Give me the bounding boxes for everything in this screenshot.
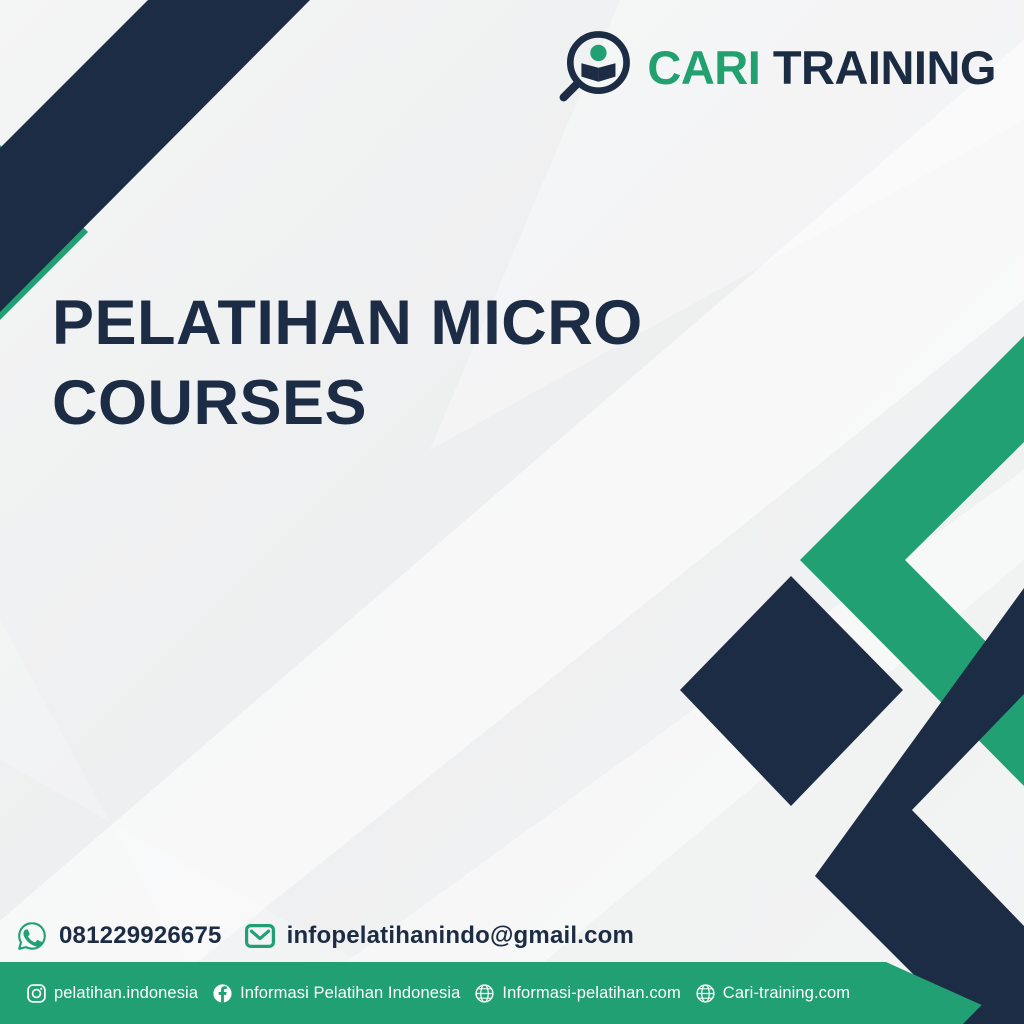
poster-canvas: CARI TRAINING PELATIHAN MICRO COURSES 08… (0, 0, 1024, 1024)
brand-lockup: CARI TRAINING (557, 30, 996, 104)
footer-website-informasi-label: Informasi-pelatihan.com (502, 984, 680, 1003)
footer-website-informasi[interactable]: Informasi-pelatihan.com (474, 983, 680, 1004)
footer-instagram[interactable]: pelatihan.indonesia (26, 983, 198, 1004)
footer-website-cari[interactable]: Cari-training.com (695, 983, 850, 1004)
footer-facebook[interactable]: Informasi Pelatihan Indonesia (212, 983, 460, 1004)
globe-icon (474, 983, 495, 1004)
magnifier-book-icon (557, 30, 631, 104)
footer-facebook-label: Informasi Pelatihan Indonesia (240, 984, 460, 1003)
contact-whatsapp-label: 081229926675 (59, 922, 222, 950)
contact-row: 081229926675 infopelatihanindo@gmail.com (16, 920, 634, 952)
footer-links: pelatihan.indonesia Informasi Pelatihan … (26, 978, 850, 1008)
brand-name-training: TRAINING (773, 41, 996, 94)
page-title: PELATIHAN MICRO COURSES (52, 283, 712, 443)
facebook-icon (212, 983, 233, 1004)
brand-name-cari: CARI (647, 41, 760, 94)
globe-icon (695, 983, 716, 1004)
contact-email[interactable]: infopelatihanindo@gmail.com (244, 920, 634, 952)
whatsapp-icon (16, 920, 48, 952)
email-icon (244, 920, 276, 952)
brand-name: CARI TRAINING (647, 44, 996, 91)
footer-instagram-label: pelatihan.indonesia (54, 984, 198, 1003)
background-decoration (0, 0, 1024, 1024)
footer-website-cari-label: Cari-training.com (723, 984, 850, 1003)
contact-email-label: infopelatihanindo@gmail.com (287, 922, 634, 950)
instagram-icon (26, 983, 47, 1004)
contact-whatsapp[interactable]: 081229926675 (16, 920, 222, 952)
